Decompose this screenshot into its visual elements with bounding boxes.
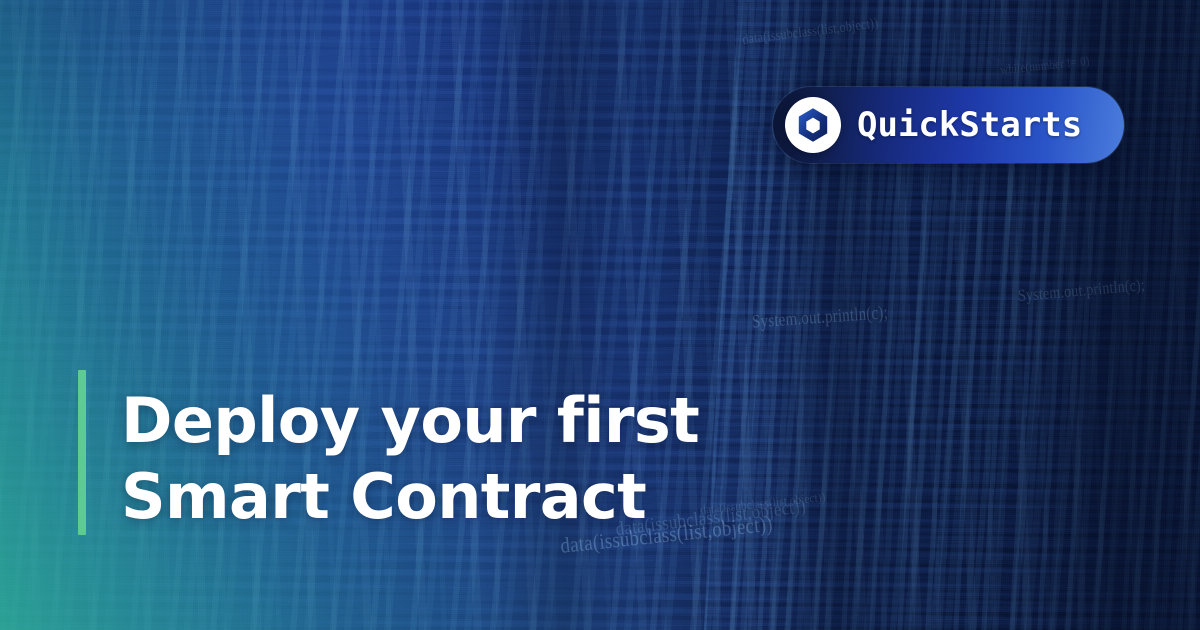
headline-line-2: Smart Contract: [121, 459, 761, 535]
badge-label: QuickStarts: [857, 108, 1082, 142]
social-card: System.out.println(c); System.out.printl…: [0, 0, 1200, 630]
headline: Deploy your first Smart Contract: [121, 383, 761, 535]
headline-line-1: Deploy your first: [121, 383, 761, 459]
chainlink-hexagon-icon: [785, 97, 841, 153]
quickstarts-badge[interactable]: QuickStarts: [773, 87, 1124, 163]
accent-bar: [78, 370, 86, 535]
